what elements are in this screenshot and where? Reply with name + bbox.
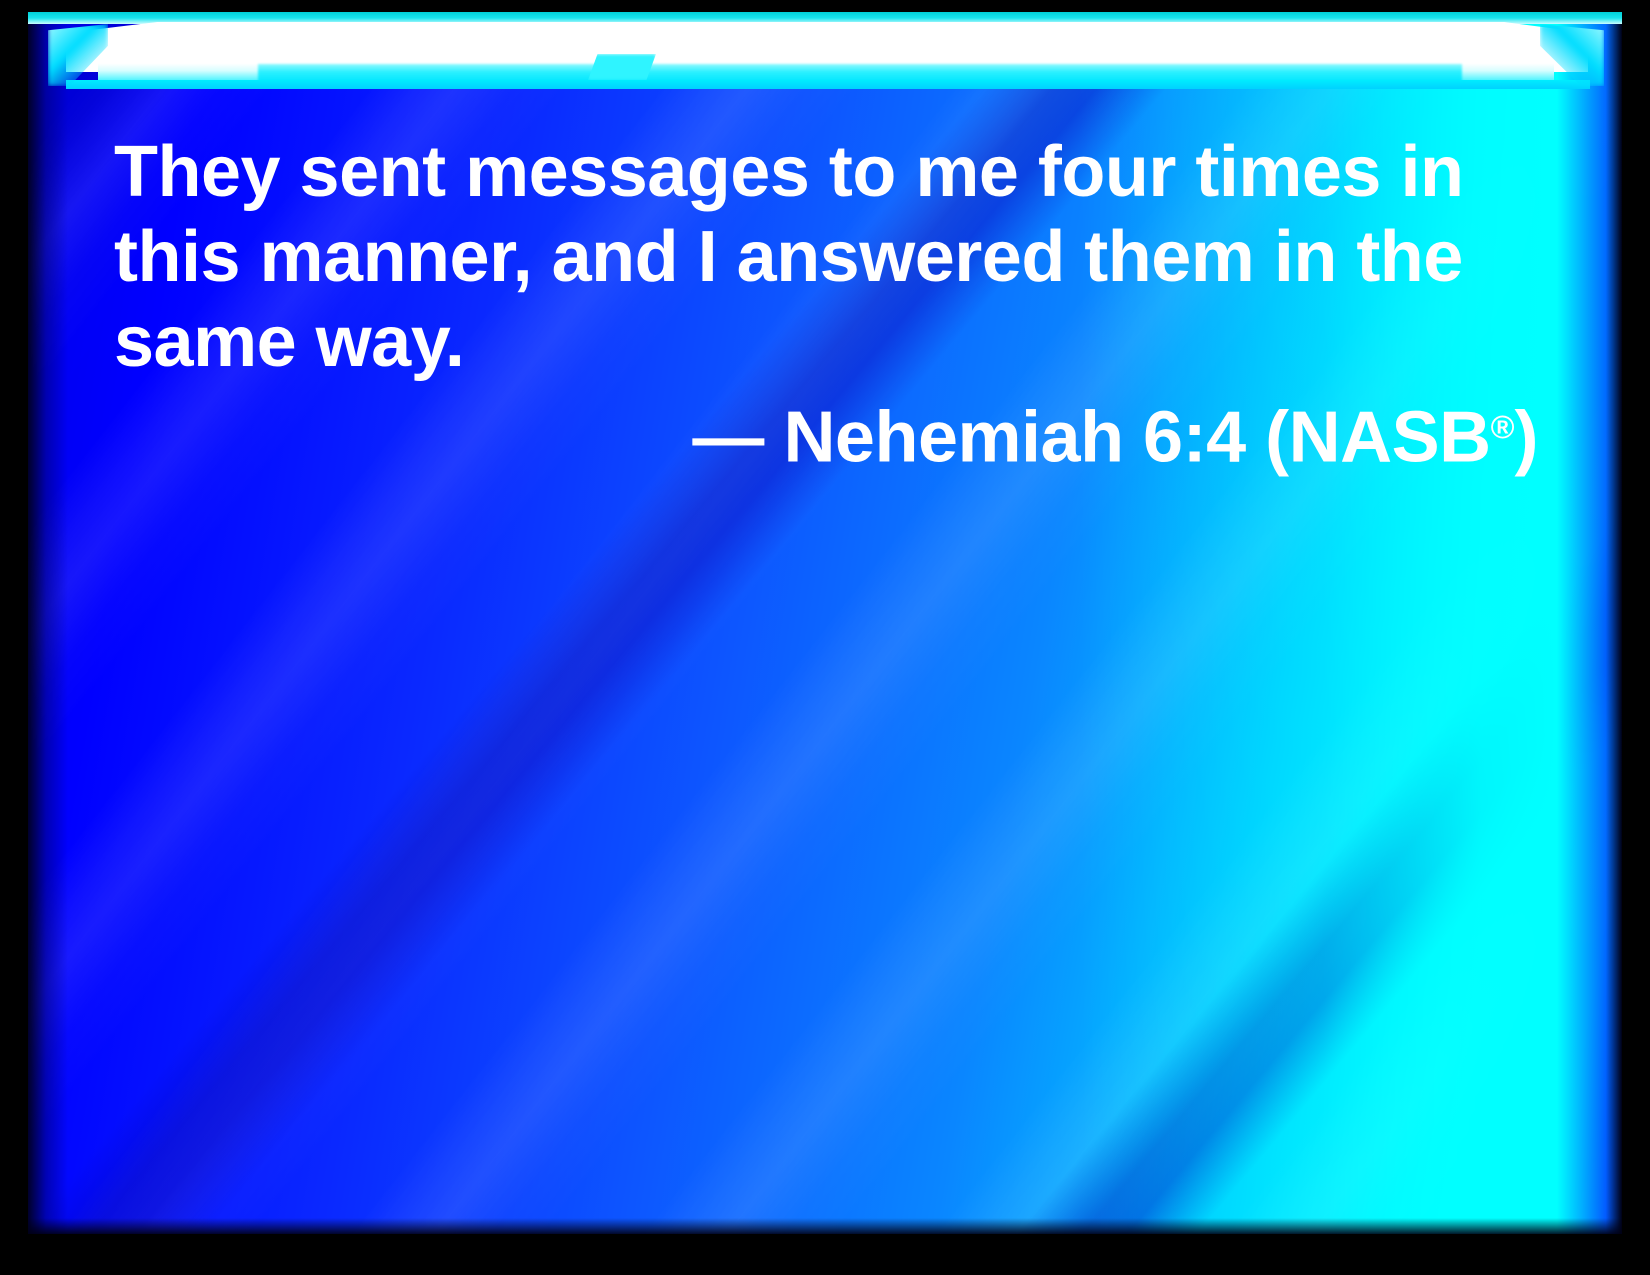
background-left-edge-shadow xyxy=(28,12,68,1234)
background-bottom-edge-shadow xyxy=(28,1218,1622,1234)
attribution-em-dash: — xyxy=(692,397,764,477)
verse-attribution: — Nehemiah 6:4 (NASB®) xyxy=(114,130,1538,480)
banner-cyan-bottom-line xyxy=(66,80,1590,89)
attribution-version-close: ) xyxy=(1515,397,1538,477)
attribution-spacer xyxy=(764,397,784,477)
attribution-reference: Nehemiah 6:4 xyxy=(783,397,1245,477)
banner-cyan-notch xyxy=(588,54,656,80)
top-highlight-banner xyxy=(28,12,1622,92)
background-artwork: They sent messages to me four times in t… xyxy=(28,12,1622,1234)
attribution-spacer-2 xyxy=(1246,397,1266,477)
attribution-version-open: (NASB xyxy=(1265,397,1491,477)
registered-trademark-icon: ® xyxy=(1491,409,1515,445)
scripture-slide: They sent messages to me four times in t… xyxy=(0,0,1650,1275)
